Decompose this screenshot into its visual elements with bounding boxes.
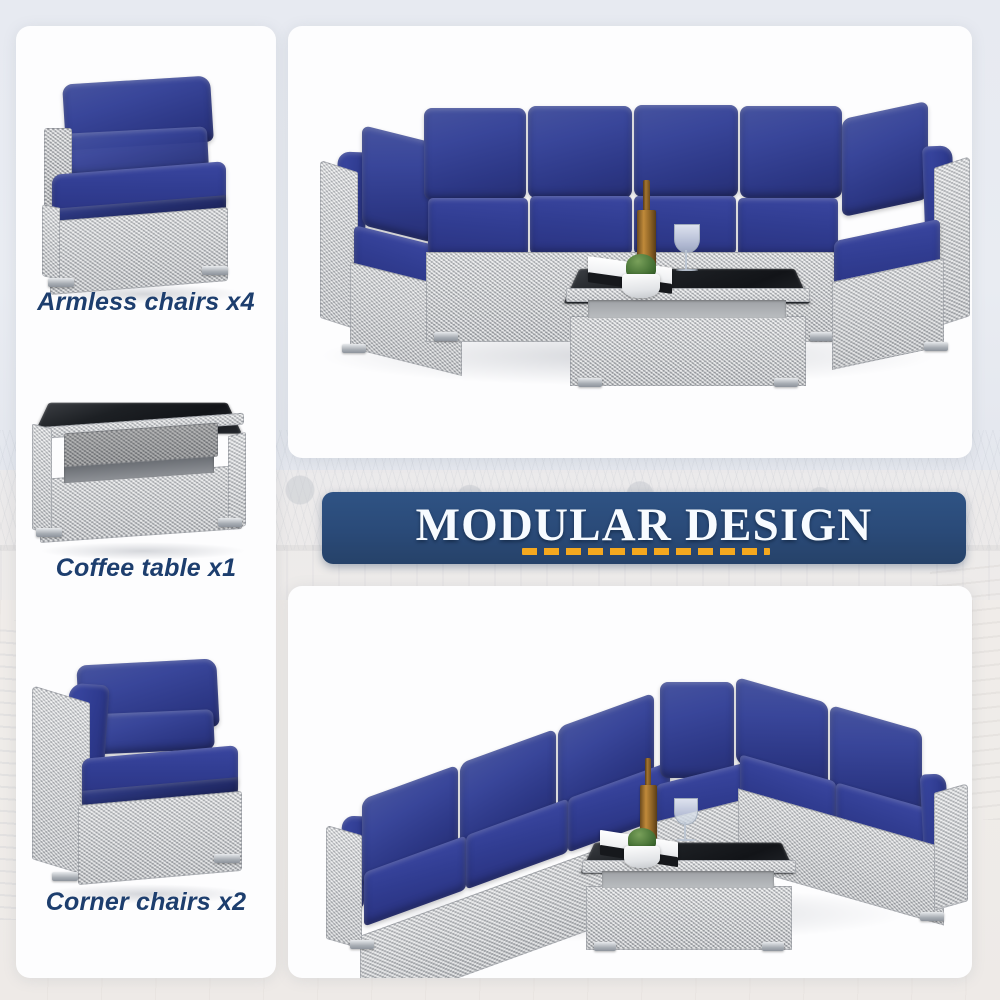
u-plant-pot-icon (622, 274, 660, 298)
u-left-corner-foot (342, 344, 366, 353)
l-wine-glass-bowl-icon (674, 798, 698, 825)
l-bottle-neck-icon (645, 758, 651, 788)
l-left-end-arm-panel (326, 825, 362, 949)
u-back-cushion-2 (528, 106, 632, 198)
l-wine-glass-base-icon (676, 839, 696, 841)
u-back-cushion-1 (424, 108, 526, 200)
u-coffee-table-shelf (588, 300, 786, 318)
coffee-table-side-panel (32, 424, 52, 535)
u-right-corner-foot (924, 342, 948, 351)
corner-chair-wicker-base (78, 791, 242, 885)
u-wine-glass-stem-icon (685, 250, 687, 270)
coffee-table-caption: Coffee table x1 (16, 554, 276, 583)
u-seat-cushion-1 (428, 198, 528, 256)
banner-title: MODULAR DESIGN (322, 498, 966, 552)
corner-chair-illustration (16, 640, 276, 902)
modular-design-banner: MODULAR DESIGN (322, 492, 966, 564)
coffee-table-foot-right (218, 518, 242, 527)
u-coffee-table-front (570, 316, 806, 386)
armless-chair-illustration (16, 56, 276, 302)
corner-chair-foot-left (52, 872, 78, 881)
u-coffee-table-foot-left (578, 378, 602, 387)
l-coffee-table-foot-right (762, 942, 784, 951)
infographic-canvas: Armless chairs x4 Coffee table x1 (0, 0, 1000, 1000)
u-wine-glass-bowl-icon (674, 224, 700, 253)
l-corner-back-cushion (660, 682, 734, 778)
component-card-armless-chair: Armless chairs x4 (16, 56, 276, 316)
u-seat-cushion-2 (530, 196, 632, 254)
u-shape-scene (288, 26, 972, 458)
u-back-row-foot-left (434, 332, 458, 341)
u-right-corner-back-cushion (842, 101, 928, 217)
l-right-foot-near (920, 912, 944, 921)
u-back-cushion-4 (740, 106, 842, 198)
l-left-foot-near (350, 940, 374, 949)
coffee-table-foot-left (36, 528, 62, 537)
l-coffee-table-foot-left (594, 942, 616, 951)
u-back-row-foot-right (810, 332, 834, 341)
armless-chair-foot-left (48, 278, 74, 287)
armless-chair-wicker-base-front (50, 207, 228, 295)
corner-chair-foot-right (214, 854, 240, 863)
armless-chair-foot-right (202, 266, 228, 275)
armless-chair-caption: Armless chairs x4 (16, 288, 276, 317)
u-bottle-neck-icon (643, 180, 650, 214)
banner-dashed-underline (522, 548, 770, 555)
l-wine-glass-stem-icon (684, 822, 686, 840)
coffee-table-illustration (16, 376, 276, 562)
u-wine-glass-base-icon (676, 269, 698, 271)
l-right-end-arm-panel (934, 783, 968, 911)
corner-chair-caption: Corner chairs x2 (16, 888, 276, 917)
component-card-corner-chair: Corner chairs x2 (16, 640, 276, 930)
u-coffee-table-foot-right (774, 378, 798, 387)
l-coffee-table-front (586, 886, 792, 950)
coffee-table-side-panel-right (228, 432, 246, 530)
u-seat-cushion-4 (738, 198, 838, 256)
l-shape-scene (288, 586, 972, 978)
l-coffee-table-shelf (602, 871, 774, 888)
l-plant-pot-icon (624, 846, 660, 868)
armless-chair-wicker-base-side (42, 204, 60, 280)
component-card-coffee-table: Coffee table x1 (16, 376, 276, 596)
